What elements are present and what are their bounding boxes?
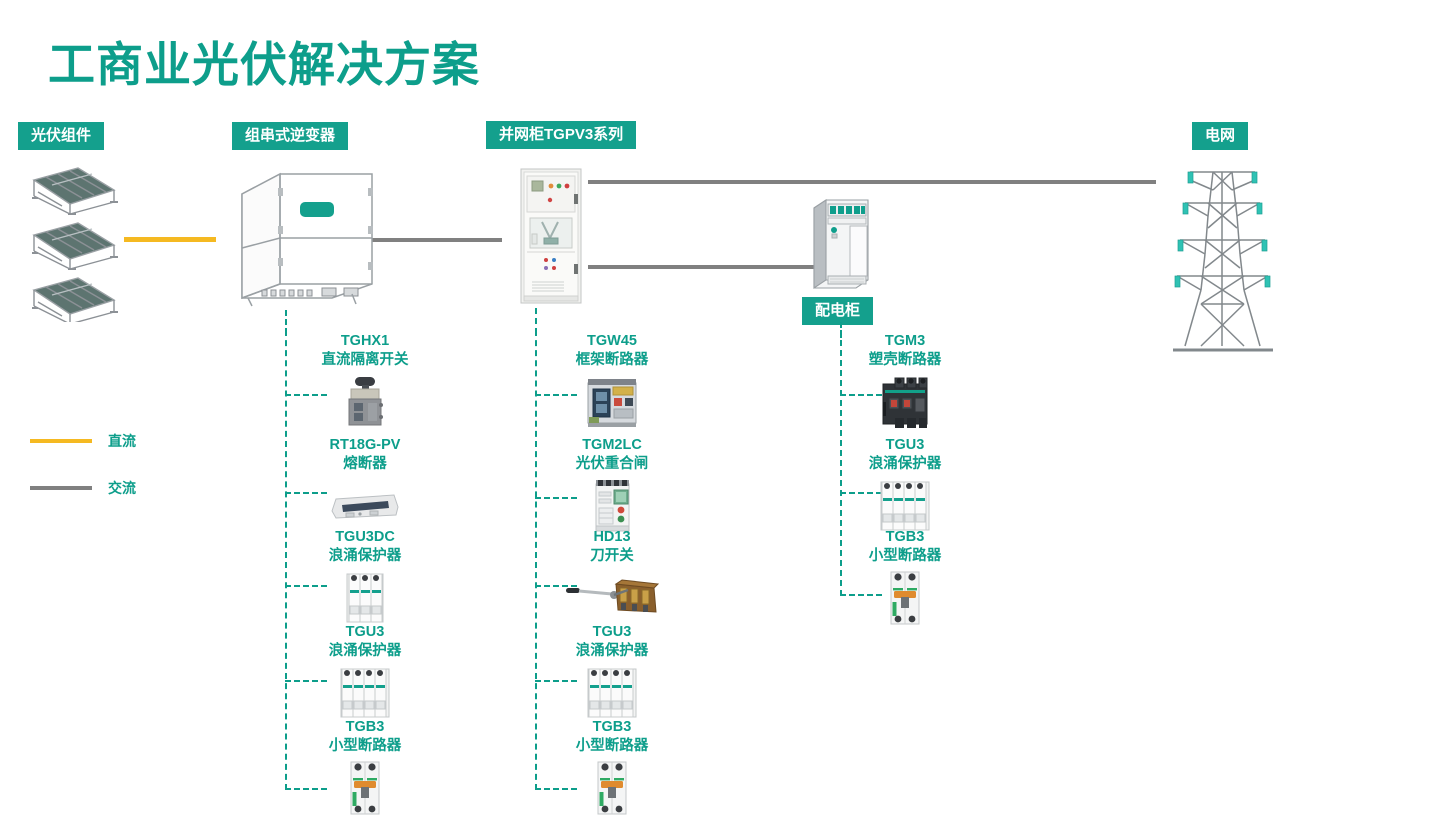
product-item[interactable]: TGU3 浪涌保护器 (280, 623, 450, 722)
spd-4pole-art (820, 475, 990, 535)
spd-3pole-art (280, 567, 450, 627)
product-code: TGB3 (527, 718, 697, 737)
product-code: TGU3 (527, 623, 697, 642)
product-name: 浪涌保护器 (527, 642, 697, 661)
spd-4pole-art (527, 662, 697, 722)
mcb-2pole-art (820, 567, 990, 627)
dc-line-swatch (30, 439, 92, 443)
product-item[interactable]: TGB3 小型断路器 (820, 528, 990, 627)
dc-isolator-switch-art (280, 371, 450, 431)
transmission-tower (1155, 158, 1290, 358)
fuse-holder-art (280, 475, 450, 535)
string-inverter (232, 166, 382, 311)
product-code: TGU3 (280, 623, 450, 642)
product-name: 熔断器 (280, 455, 450, 474)
product-code: TGU3DC (280, 528, 450, 547)
badge-distribution-cabinet: 配电柜 (802, 297, 873, 325)
page-title: 工商业光伏解决方案 (48, 26, 480, 95)
product-name: 光伏重合闸 (527, 455, 697, 474)
product-item[interactable]: HD13 刀开关 (527, 528, 697, 627)
product-code: HD13 (527, 528, 697, 547)
product-name: 浪涌保护器 (820, 455, 990, 474)
product-item[interactable]: TGU3 浪涌保护器 (527, 623, 697, 722)
product-code: TGB3 (280, 718, 450, 737)
legend-item-dc: 直流 (30, 431, 136, 451)
product-item[interactable]: TGB3 小型断路器 (280, 718, 450, 817)
product-name: 塑壳断路器 (820, 351, 990, 370)
product-code: TGM3 (820, 332, 990, 351)
product-code: RT18G-PV (280, 436, 450, 455)
product-name: 浪涌保护器 (280, 547, 450, 566)
dc-flow-line-panels-to-inverter (124, 237, 216, 242)
product-item[interactable]: TGM2LC 光伏重合闸 (527, 436, 697, 535)
product-item[interactable]: TGB3 小型断路器 (527, 718, 697, 817)
ac-flow-line-cabinet-to-grid (588, 180, 1156, 184)
knife-switch-art (527, 567, 697, 627)
air-circuit-breaker-art (527, 371, 697, 431)
legend-item-ac: 交流 (30, 478, 136, 498)
badge-grid-cabinet: 并网柜TGPV3系列 (486, 121, 636, 149)
product-item[interactable]: TGU3DC 浪涌保护器 (280, 528, 450, 627)
spd-4pole-art (280, 662, 450, 722)
diagram-canvas: 工商业光伏解决方案 光伏组件 组串式逆变器 并网柜TGPV3系列 配电柜 电网 … (0, 0, 1436, 829)
product-code: TGU3 (820, 436, 990, 455)
product-code: TGW45 (527, 332, 697, 351)
distribution-cabinet (810, 194, 872, 290)
ac-flow-line-inverter-to-cabinet (372, 238, 502, 242)
product-name: 小型断路器 (527, 737, 697, 756)
ac-line-swatch (30, 486, 92, 490)
badge-string-inverter: 组串式逆变器 (232, 122, 348, 150)
legend-label-ac: 交流 (108, 478, 136, 498)
product-item[interactable]: TGHX1 直流隔离开关 (280, 332, 450, 431)
product-item[interactable]: TGM3 塑壳断路器 (820, 332, 990, 431)
mcb-2pole-art (527, 757, 697, 817)
badge-power-grid: 电网 (1192, 122, 1248, 150)
ac-flow-line-cabinet-to-distribution (588, 265, 814, 269)
product-code: TGHX1 (280, 332, 450, 351)
mccb-3pole-art (820, 371, 990, 431)
product-item[interactable]: TGW45 框架断路器 (527, 332, 697, 431)
badge-pv-modules: 光伏组件 (18, 122, 104, 150)
product-name: 直流隔离开关 (280, 351, 450, 370)
solar-panel-array (22, 162, 122, 322)
product-item[interactable]: RT18G-PV 熔断器 (280, 436, 450, 535)
product-item[interactable]: TGU3 浪涌保护器 (820, 436, 990, 535)
grid-tie-cabinet (520, 168, 582, 304)
product-name: 小型断路器 (280, 737, 450, 756)
product-name: 浪涌保护器 (280, 642, 450, 661)
product-code: TGM2LC (527, 436, 697, 455)
product-name: 框架断路器 (527, 351, 697, 370)
mcb-2pole-art (280, 757, 450, 817)
pv-recloser-art (527, 475, 697, 535)
product-name: 刀开关 (527, 547, 697, 566)
product-code: TGB3 (820, 528, 990, 547)
product-name: 小型断路器 (820, 547, 990, 566)
legend-label-dc: 直流 (108, 431, 136, 451)
